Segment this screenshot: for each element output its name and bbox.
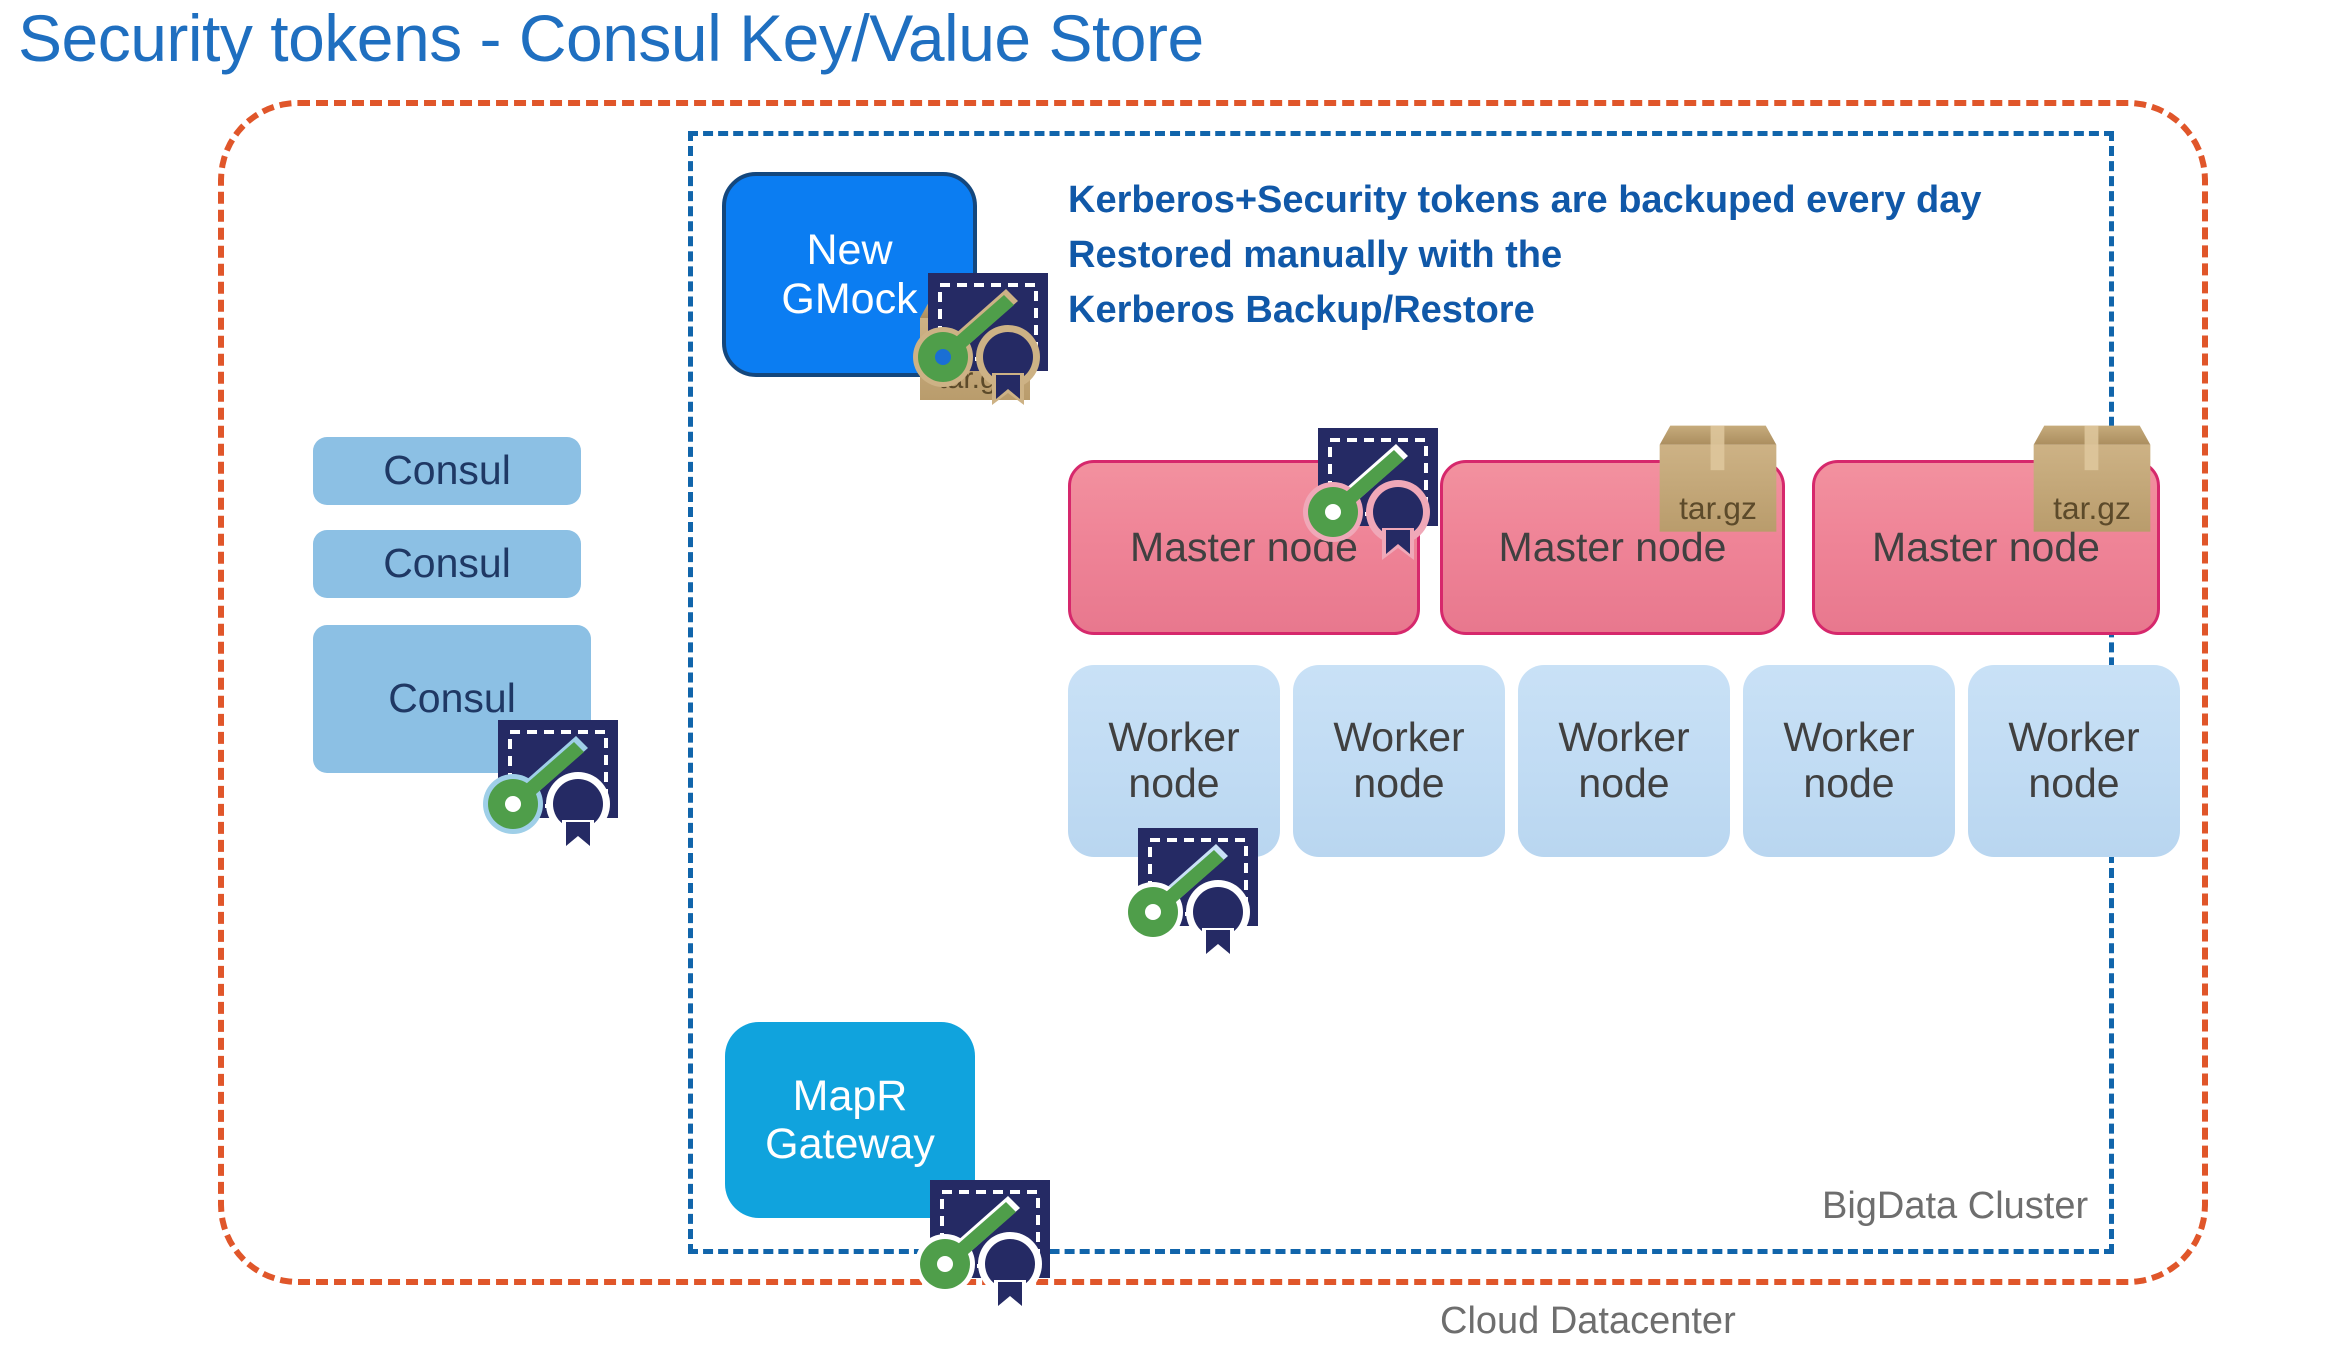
cloud-datacenter-label: Cloud Datacenter <box>1440 1300 1736 1343</box>
security-token-icon <box>458 712 628 852</box>
consul-node-1-label: Consul <box>383 448 511 494</box>
worker-node-2-label-line-1: Worker <box>1333 715 1464 761</box>
consul-node-2[interactable]: Consul <box>313 530 581 598</box>
annotation-line-3: Kerberos Backup/Restore <box>1068 288 2078 333</box>
annotation-line-1: Kerberos+Security tokens are backuped ev… <box>1068 178 2078 223</box>
worker-node-2-label: Worker node <box>1333 715 1464 807</box>
worker-node-3-label-line-1: Worker <box>1558 715 1689 761</box>
tar-gz-archive-icon: tar.gz <box>1648 415 1788 537</box>
annotation-line-2: Restored manually with the <box>1068 233 2078 278</box>
mapr-gateway-label: MapR Gateway <box>765 1072 935 1168</box>
svg-text:tar.gz: tar.gz <box>1679 490 1757 526</box>
worker-node-2[interactable]: Worker node <box>1293 665 1505 857</box>
worker-node-3[interactable]: Worker node <box>1518 665 1730 857</box>
worker-node-2-label-line-2: node <box>1333 761 1464 807</box>
worker-node-4-label: Worker node <box>1783 715 1914 807</box>
svg-text:tar.gz: tar.gz <box>2053 490 2131 526</box>
security-token-icon <box>890 1172 1060 1312</box>
mapr-gateway-label-line-2: Gateway <box>765 1120 935 1168</box>
worker-node-4[interactable]: Worker node <box>1743 665 1955 857</box>
security-token-icon <box>888 265 1058 405</box>
security-token-icon <box>1098 820 1268 960</box>
security-token-icon <box>1278 420 1448 560</box>
worker-node-3-label: Worker node <box>1558 715 1689 807</box>
worker-node-5-label-line-2: node <box>2008 761 2139 807</box>
worker-node-1-label-line-2: node <box>1108 761 1239 807</box>
worker-node-4-label-line-1: Worker <box>1783 715 1914 761</box>
diagram-canvas: Security tokens - Consul Key/Value Store… <box>0 0 2329 1361</box>
consul-node-1[interactable]: Consul <box>313 437 581 505</box>
worker-node-5-label-line-1: Worker <box>2008 715 2139 761</box>
worker-node-5[interactable]: Worker node <box>1968 665 2180 857</box>
page-title: Security tokens - Consul Key/Value Store <box>18 2 1204 75</box>
worker-node-5-label: Worker node <box>2008 715 2139 807</box>
consul-node-2-label: Consul <box>383 541 511 587</box>
tar-gz-archive-icon: tar.gz <box>2022 415 2162 537</box>
backup-annotation-note: Kerberos+Security tokens are backuped ev… <box>1068 178 2078 342</box>
worker-node-1-label-line-1: Worker <box>1108 715 1239 761</box>
mapr-gateway-label-line-1: MapR <box>765 1072 935 1120</box>
worker-node-3-label-line-2: node <box>1558 761 1689 807</box>
bigdata-cluster-label: BigData Cluster <box>1822 1185 2088 1228</box>
worker-node-1-label: Worker node <box>1108 715 1239 807</box>
worker-node-4-label-line-2: node <box>1783 761 1914 807</box>
